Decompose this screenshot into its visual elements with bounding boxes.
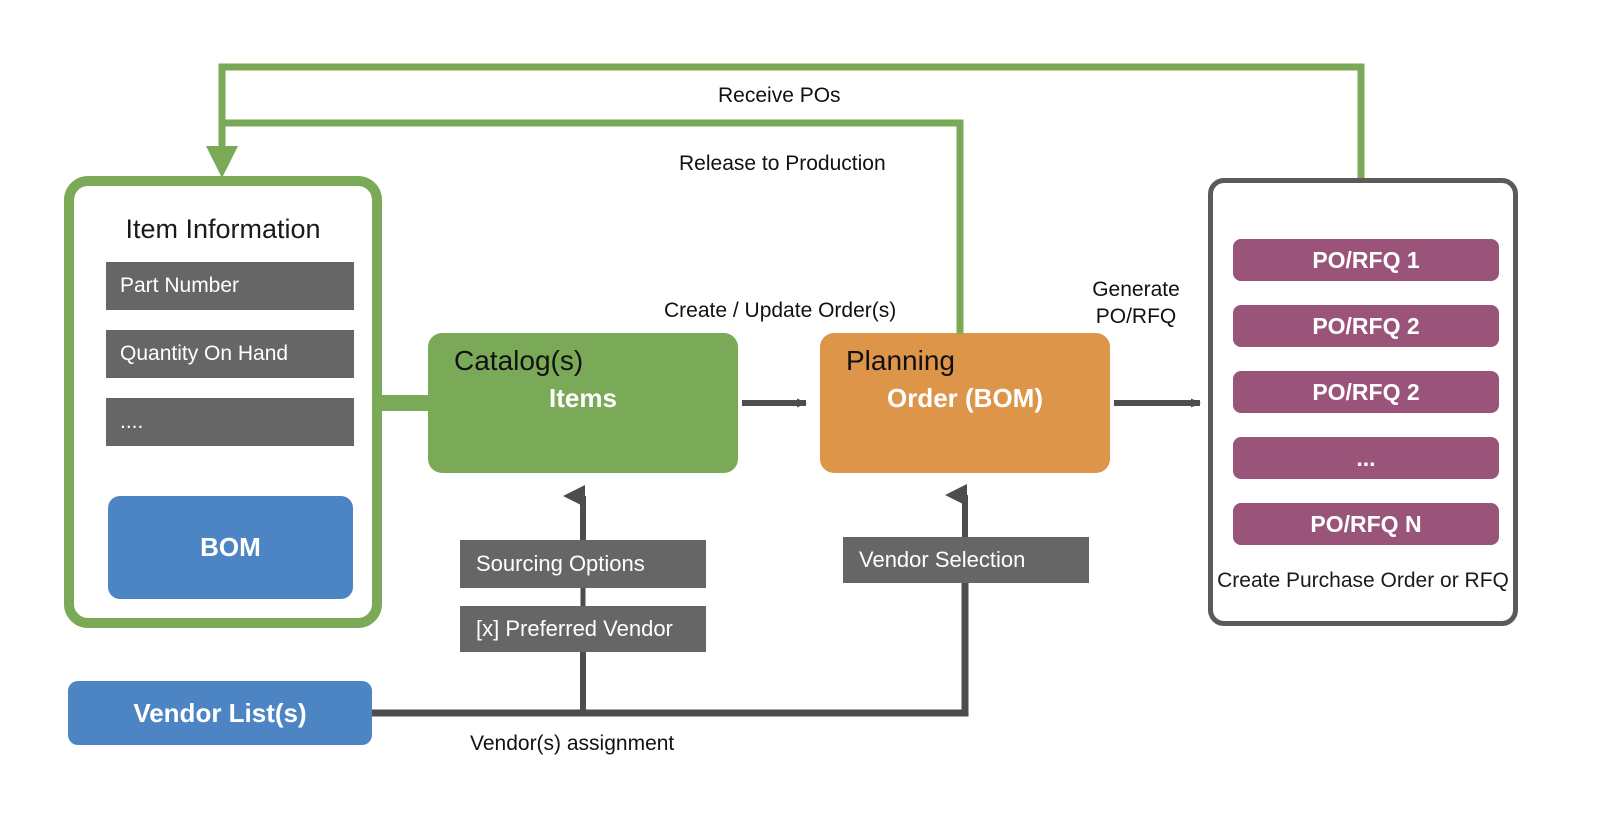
item-information-panel: Item Information Part Number Quantity On…: [64, 176, 382, 628]
po-rfq-item[interactable]: PO/RFQ N: [1233, 503, 1499, 545]
catalog-title: Catalog(s): [454, 345, 583, 377]
label-receive-pos: Receive POs: [718, 82, 841, 109]
field-part-number[interactable]: Part Number: [106, 262, 354, 310]
chip-preferred-vendor[interactable]: [x] Preferred Vendor: [460, 606, 706, 652]
chip-vendor-selection[interactable]: Vendor Selection: [843, 537, 1089, 583]
label-vendor-assignment: Vendor(s) assignment: [470, 730, 674, 757]
diagram-canvas: Item Information Part Number Quantity On…: [0, 0, 1600, 831]
chip-sourcing-options[interactable]: Sourcing Options: [460, 540, 706, 588]
po-rfq-item[interactable]: PO/RFQ 2: [1233, 305, 1499, 347]
po-rfq-caption: Create Purchase Order or RFQ: [1213, 567, 1513, 594]
po-rfq-item[interactable]: PO/RFQ 1: [1233, 239, 1499, 281]
catalog-box[interactable]: Catalog(s) Items: [428, 333, 738, 473]
label-create-update-orders: Create / Update Order(s): [664, 297, 896, 324]
vendor-list-box[interactable]: Vendor List(s): [68, 681, 372, 745]
planning-title: Planning: [846, 345, 955, 377]
planning-box[interactable]: Planning Order (BOM): [820, 333, 1110, 473]
label-release-to-production: Release to Production: [679, 150, 886, 177]
bom-box[interactable]: BOM: [108, 496, 353, 599]
po-rfq-item[interactable]: ...: [1233, 437, 1499, 479]
po-rfq-panel: PO/RFQ 1 PO/RFQ 2 PO/RFQ 2 ... PO/RFQ N …: [1208, 178, 1518, 626]
label-generate-po-rfq: Generate PO/RFQ: [1090, 276, 1182, 330]
field-more[interactable]: ....: [106, 398, 354, 446]
planning-subtitle: Order (BOM): [820, 383, 1110, 414]
po-rfq-item[interactable]: PO/RFQ 2: [1233, 371, 1499, 413]
catalog-subtitle: Items: [428, 383, 738, 414]
field-quantity-on-hand[interactable]: Quantity On Hand: [106, 330, 354, 378]
item-information-title: Item Information: [74, 214, 372, 245]
